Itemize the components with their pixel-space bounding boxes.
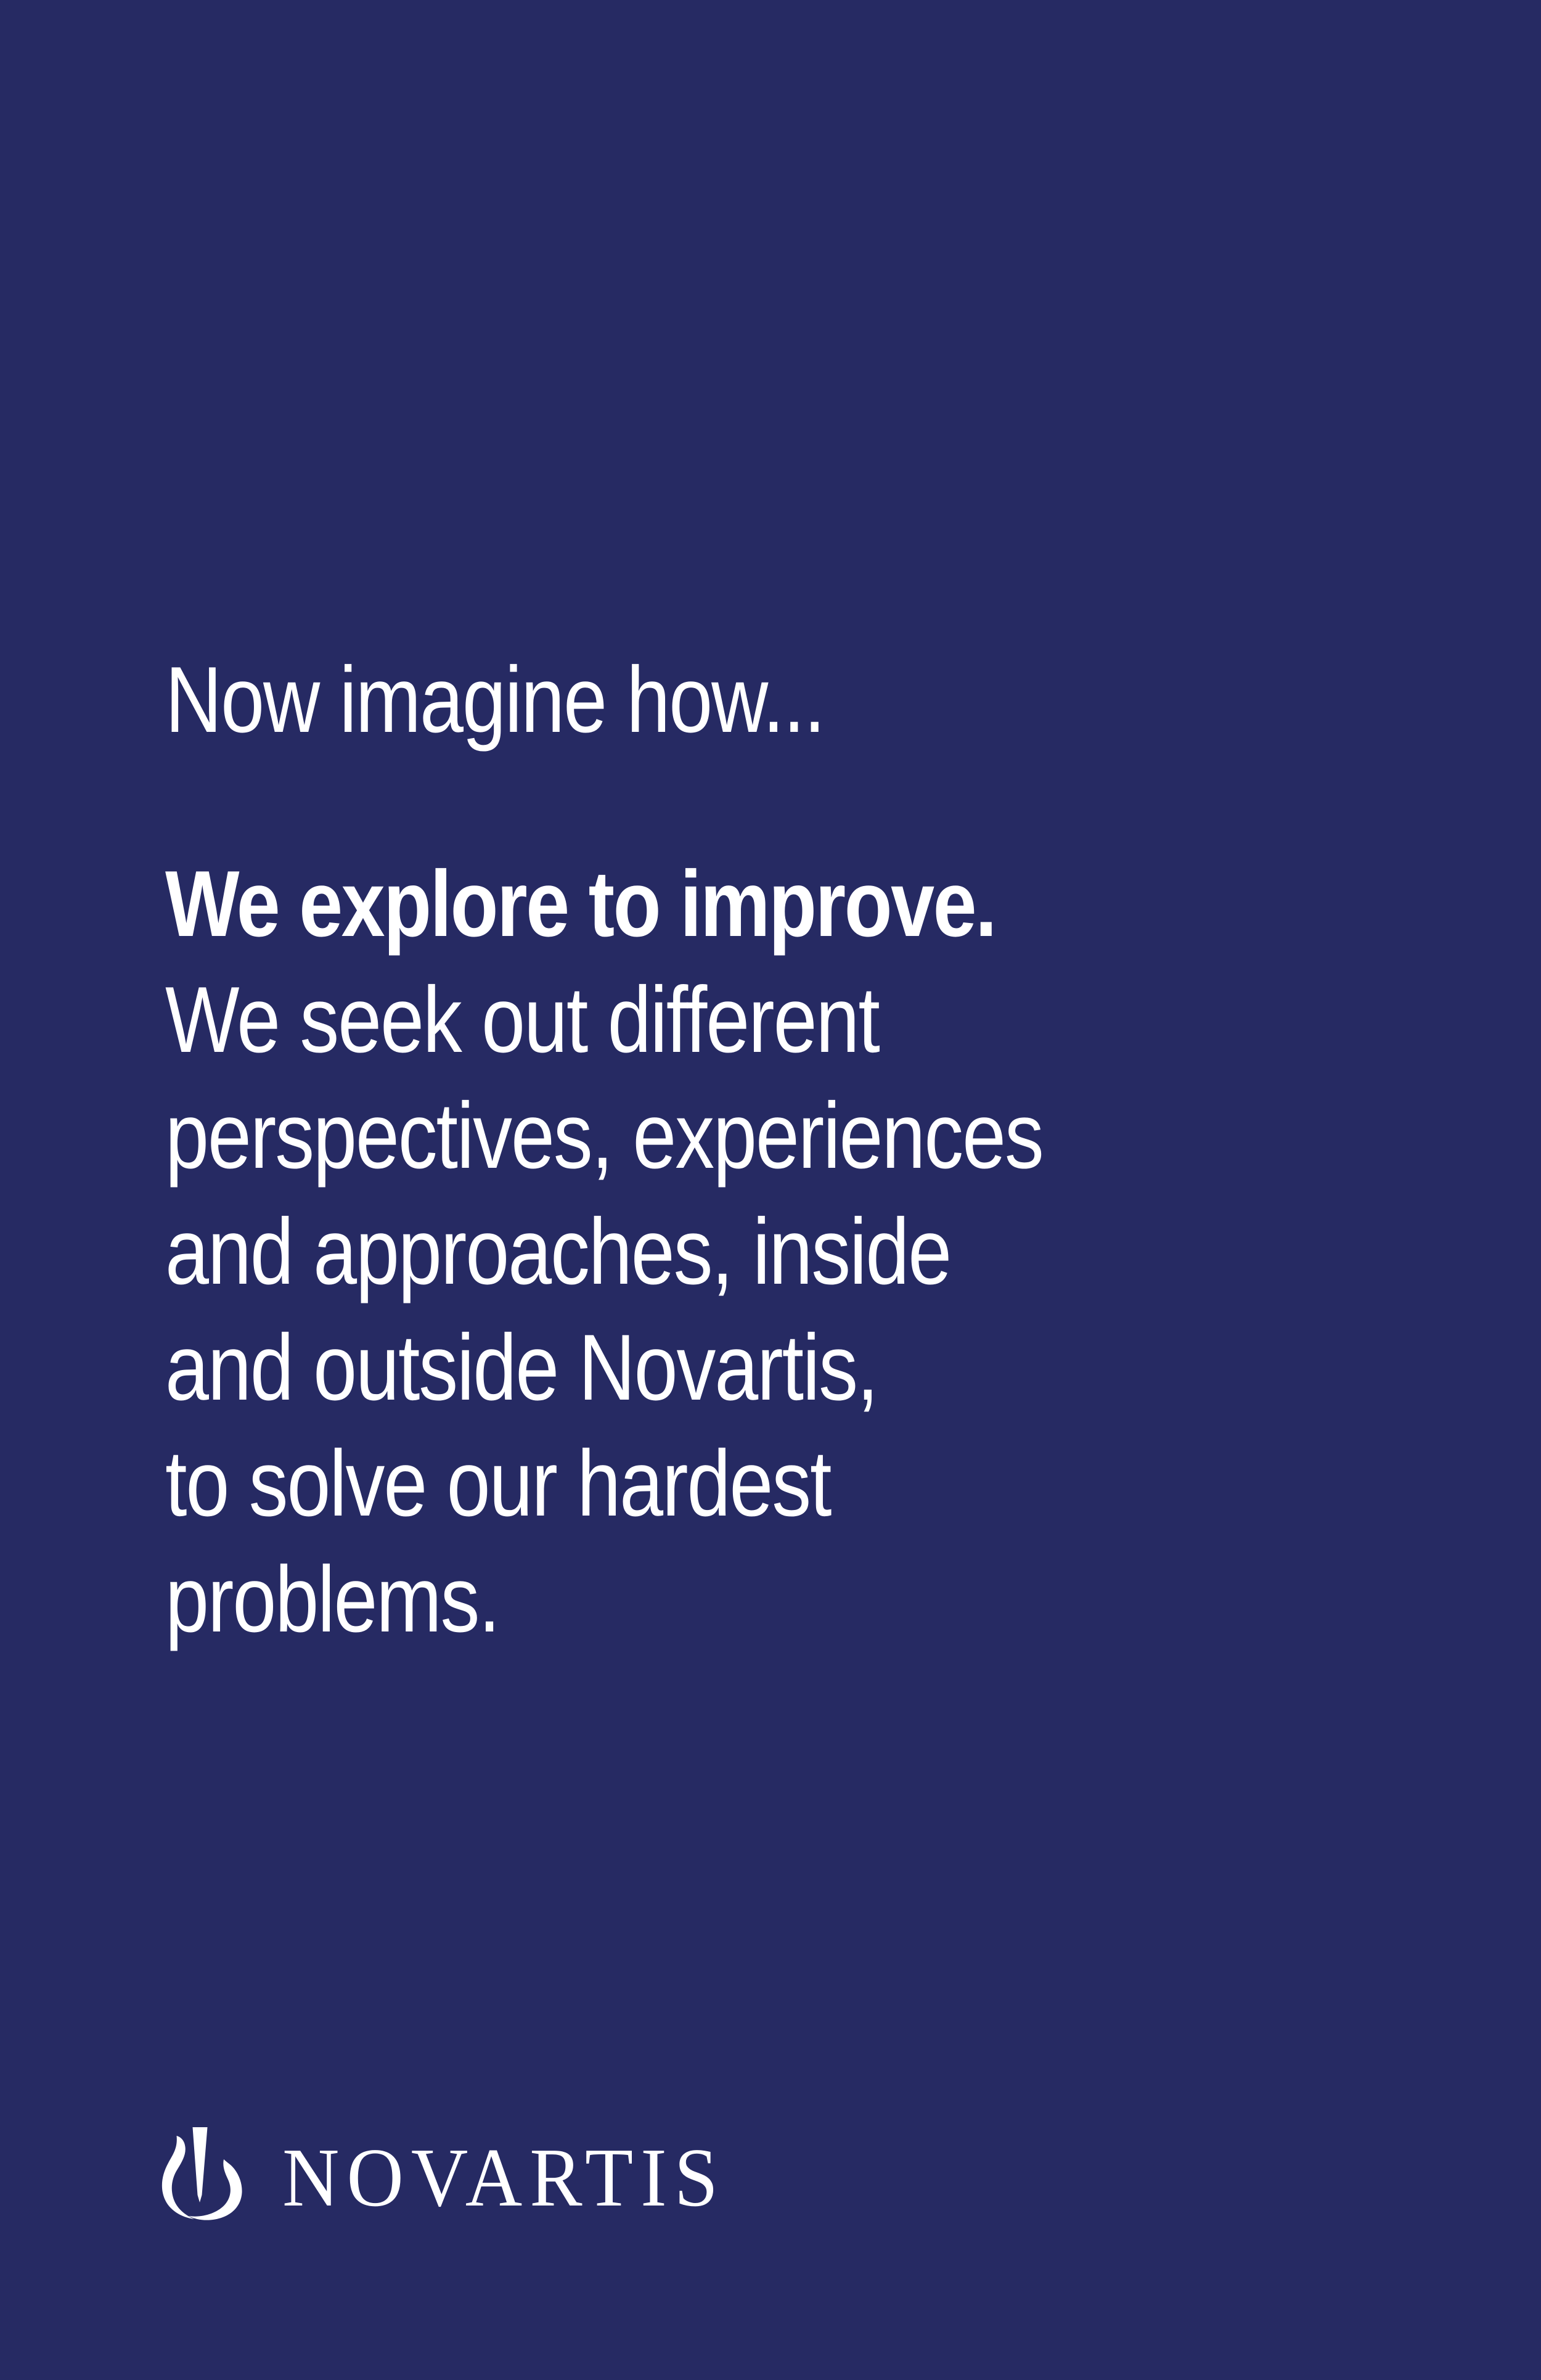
novartis-logo-lockup: NOVARTIS xyxy=(159,2116,726,2227)
statement-line-7: problems. xyxy=(165,1541,1242,1657)
eyebrow-text: Now imagine how... xyxy=(165,641,1242,758)
statement-line-6: to solve our hardest xyxy=(165,1426,1242,1541)
statement-paragraph: We explore to improve. We seek out diffe… xyxy=(165,758,1447,1657)
statement-line-3: perspectives, experiences xyxy=(165,1078,1242,1194)
statement-line-4: and approaches, inside xyxy=(165,1194,1242,1310)
novartis-wordmark: NOVARTIS xyxy=(282,2136,726,2227)
poster-canvas: Now imagine how... We explore to improve… xyxy=(0,0,1541,2380)
statement-line-5: and outside Novartis, xyxy=(165,1310,1242,1426)
copy-block: Now imagine how... We explore to improve… xyxy=(165,641,1447,1657)
statement-line-2: We seek out different xyxy=(165,962,1242,1078)
novartis-flame-icon xyxy=(159,2116,243,2227)
statement-line-1: We explore to improve. xyxy=(165,846,1242,962)
